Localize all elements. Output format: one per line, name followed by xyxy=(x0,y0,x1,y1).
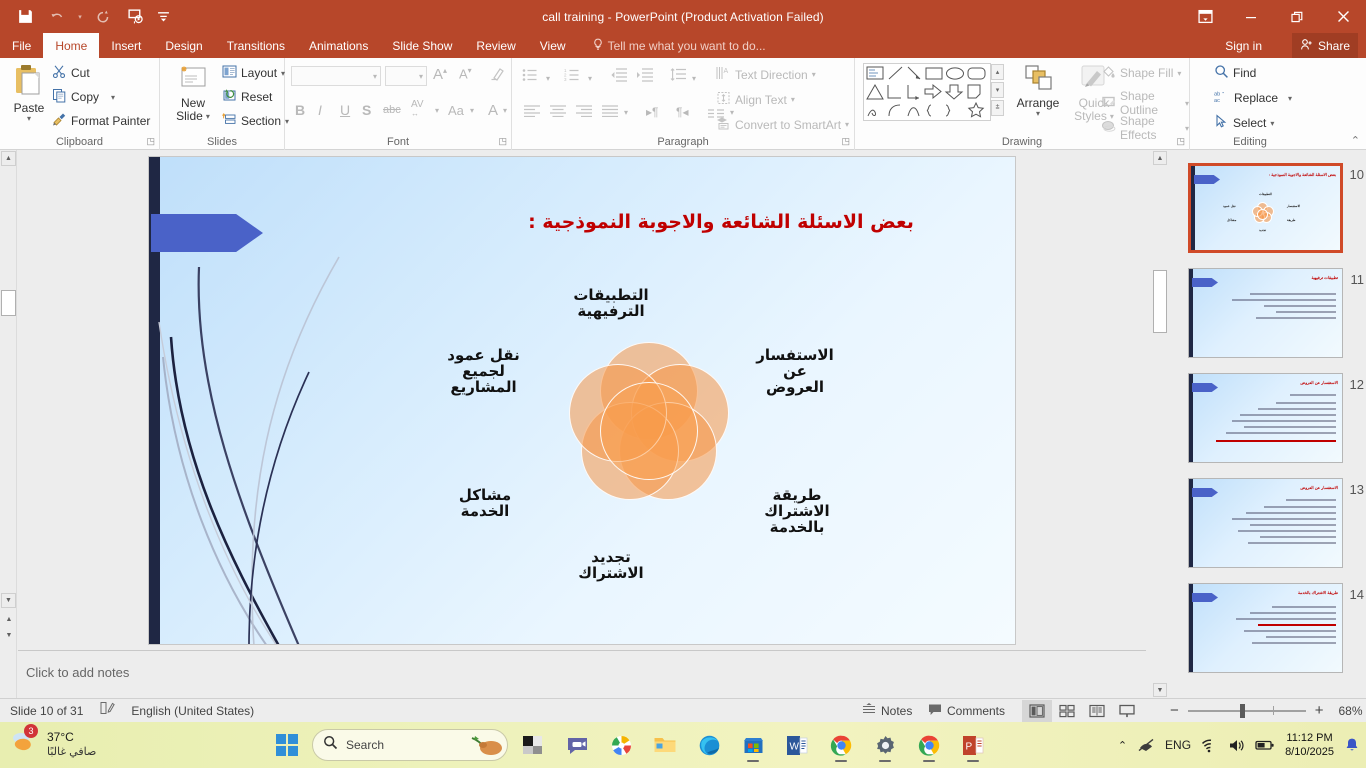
find-label: Find xyxy=(1233,66,1256,80)
clipboard-dialog-launcher[interactable]: ◳ xyxy=(146,136,155,147)
microsoft-store-icon[interactable] xyxy=(734,726,772,764)
bullets-button[interactable] xyxy=(522,68,538,87)
notes-pane[interactable]: Click to add notes xyxy=(18,651,1146,698)
svg-text:3: 3 xyxy=(564,77,567,82)
scroll-up-button[interactable]: ▲ xyxy=(1,151,16,166)
font-color-button[interactable]: A xyxy=(488,102,498,119)
thumbnail-row[interactable]: تطبيقات ترفيهية 11 xyxy=(1168,264,1366,370)
shape-fill-button[interactable]: Shape Fill ▾ xyxy=(1101,64,1181,82)
thumbnail-number: 11 xyxy=(1351,272,1365,287)
smartart-label-service-problems[interactable]: مشاكل الخدمة xyxy=(419,487,551,519)
weather-condition: صافي غالبًا xyxy=(47,745,96,758)
smartart-icon xyxy=(716,116,731,133)
running-indicator xyxy=(923,760,935,762)
notes-placeholder: Click to add notes xyxy=(26,665,129,680)
thumb-scroll-down-button[interactable]: ▼ xyxy=(1153,683,1167,697)
ribbon-group-paragraph: ▾ 123 ▾ ▾ ▾ ▸¶ ¶◂ ▾ xyxy=(512,58,855,150)
slide-sorter-view-button[interactable] xyxy=(1052,700,1082,722)
running-indicator xyxy=(835,760,847,762)
label-line: نقل عمود xyxy=(411,347,556,363)
new-slide-icon xyxy=(177,64,209,97)
reset-button[interactable]: Reset xyxy=(222,88,272,106)
taskbar: 3 37°C صافي غالبًا Search xyxy=(0,722,1366,768)
shape-fill-icon xyxy=(1101,64,1116,82)
bullets-dropdown-icon[interactable]: ▾ xyxy=(546,74,550,83)
svg-text:P: P xyxy=(966,741,973,752)
zoom-out-button[interactable]: − xyxy=(1170,702,1179,719)
label-line: مشاكل xyxy=(419,487,551,503)
label-line: الاستفسار xyxy=(729,347,861,363)
language-indicator-tray[interactable]: ENG xyxy=(1165,738,1191,752)
arrange-icon xyxy=(1022,64,1054,97)
ribbon-group-font: ▾ ▾ A▴ A▾ B I U S abc AV ↔ ▾ Aa ▾ A ▾ Fo… xyxy=(285,58,512,150)
scrollbar-thumb[interactable] xyxy=(1,290,16,316)
section-button[interactable]: Section ▾ xyxy=(222,112,289,130)
slide-vertical-scrollbar[interactable]: ▲ ▼ ▲ ▼ xyxy=(0,150,17,698)
smartart-label-subscription-method[interactable]: طريقة الاشتراك بالخدمة xyxy=(731,487,863,536)
slideshow-view-button[interactable] xyxy=(1112,700,1142,722)
share-label: Share xyxy=(1318,39,1350,53)
notes-button[interactable]: Notes xyxy=(862,703,912,719)
text-direction-button[interactable]: A Text Direction ▾ xyxy=(716,66,816,83)
battery-icon[interactable] xyxy=(1255,738,1275,752)
font-name-input[interactable]: ▾ xyxy=(291,66,381,86)
editing-group-label: Editing xyxy=(1190,136,1310,148)
align-text-icon xyxy=(716,91,731,108)
thumbnail-number: 14 xyxy=(1350,587,1364,602)
settings-icon[interactable] xyxy=(866,726,904,764)
photos-icon[interactable] xyxy=(602,726,640,764)
character-spacing-button[interactable]: AV ↔ xyxy=(411,100,424,118)
text-direction-label: Text Direction xyxy=(735,68,808,82)
cursor-icon xyxy=(1214,114,1229,132)
label-line: لجميع xyxy=(411,363,556,379)
shapes-gallery[interactable] xyxy=(863,63,991,121)
work-area: ▲ ▼ ▲ ▼ بعض الاسئلة الشائعة والاجوبة الن… xyxy=(0,150,1366,698)
share-person-icon xyxy=(1300,38,1313,54)
word-icon[interactable]: W xyxy=(778,726,816,764)
align-center-button[interactable] xyxy=(550,104,566,122)
thumb-title: طريقة الاشتراك بالخدمة xyxy=(1298,590,1338,595)
comment-icon xyxy=(928,703,942,719)
svg-text:ab: ab xyxy=(1214,92,1220,98)
text-direction-ltr-button[interactable]: ▸¶ xyxy=(646,105,658,119)
align-text-button[interactable]: Align Text ▾ xyxy=(716,91,795,108)
label-line: تجديد xyxy=(541,549,681,565)
tab-home[interactable]: Home xyxy=(43,33,99,58)
close-button[interactable] xyxy=(1320,0,1366,33)
ribbon-group-clipboard: Paste ▾ Cut Copy ▾ Format Painter Clipbo… xyxy=(0,58,160,150)
task-view-icon[interactable] xyxy=(514,726,552,764)
chat-icon[interactable] xyxy=(558,726,596,764)
zoom-level-label[interactable]: 68% xyxy=(1333,704,1363,718)
slide-thumbnail-13[interactable]: الاستفسار عن العروض xyxy=(1188,478,1343,568)
running-indicator xyxy=(967,760,979,762)
tab-file[interactable]: File xyxy=(0,33,43,58)
slide-editing-pane: بعض الاسئلة الشائعة والاجوبة النموذجية :… xyxy=(18,150,1146,650)
format-painter-label: Format Painter xyxy=(71,114,150,128)
search-placeholder: Search xyxy=(346,738,384,752)
running-indicator xyxy=(747,760,759,762)
slide-thumbnail-10[interactable]: بعض الاسئلة الشائعة والاجوبة النموذجية :… xyxy=(1188,163,1343,253)
ribbon-group-editing: Find abac Replace ▾ Select ▾ Editing xyxy=(1190,58,1310,150)
thumb-banner-arrow xyxy=(1192,488,1218,497)
clear-formatting-icon[interactable] xyxy=(489,66,505,87)
reset-label: Reset xyxy=(241,90,272,104)
slide-thumbnail-14[interactable]: طريقة الاشتراك بالخدمة xyxy=(1188,583,1343,673)
numbering-button[interactable]: 123 xyxy=(564,68,580,87)
shapes-scroll-down-button[interactable]: ▾ xyxy=(991,82,1004,98)
tab-view[interactable]: View xyxy=(528,33,578,58)
scissors-icon xyxy=(52,64,67,82)
replace-label: Replace xyxy=(1234,91,1278,105)
increase-font-size-button[interactable]: A▴ xyxy=(433,66,447,83)
layout-button[interactable]: Layout ▾ xyxy=(222,64,285,82)
minimize-button[interactable] xyxy=(1228,0,1274,33)
layout-icon xyxy=(222,64,237,82)
arrange-dropdown-icon[interactable]: ▾ xyxy=(1036,110,1040,119)
bold-button[interactable]: B xyxy=(295,102,305,118)
font-size-dropdown-icon[interactable]: ▾ xyxy=(419,72,423,81)
zoom-slider[interactable] xyxy=(1188,710,1306,712)
scroll-down-button[interactable]: ▼ xyxy=(1,593,16,608)
slide-banner-arrow xyxy=(151,214,263,252)
lightbulb-icon xyxy=(592,38,604,54)
save-icon[interactable] xyxy=(10,4,40,30)
status-bar: Slide 10 of 31 English (United States) N… xyxy=(0,698,1366,722)
thumbnail-number: 13 xyxy=(1350,482,1364,497)
search-icon xyxy=(1214,64,1229,82)
shapes-more-button[interactable]: ⩲ xyxy=(991,100,1004,116)
svg-text:A: A xyxy=(724,68,729,75)
comments-label: Comments xyxy=(947,704,1005,718)
columns-dropdown-icon[interactable]: ▾ xyxy=(624,108,628,117)
cut-label: Cut xyxy=(71,66,90,80)
reset-icon xyxy=(222,88,237,106)
system-tray: ⌃ ENG 11:12 PM 8/10/2025 xyxy=(1118,722,1360,768)
spelling-icon[interactable] xyxy=(99,701,115,720)
title-bar: ▾ call training - PowerPoint (Product Ac… xyxy=(0,0,1366,33)
search-box[interactable]: Search xyxy=(312,729,508,761)
clipboard-group-label: Clipboard xyxy=(0,136,159,148)
microsoft-edge-icon[interactable] xyxy=(690,726,728,764)
ribbon-group-slides: New Slide ▾ Layout ▾ Reset Section ▾ xyxy=(160,58,285,150)
shape-outline-icon xyxy=(1101,94,1116,112)
smartart-venn-graphic[interactable] xyxy=(569,342,729,502)
weather-temperature: 37°C xyxy=(47,730,96,745)
strikethrough-button[interactable]: abc xyxy=(383,104,401,116)
zoom-slider-handle[interactable] xyxy=(1240,704,1245,718)
paste-button[interactable]: Paste ▾ xyxy=(8,64,50,124)
restore-button[interactable] xyxy=(1274,0,1320,33)
shape-outline-button[interactable]: Shape Outline ▾ xyxy=(1101,89,1189,117)
tab-review[interactable]: Review xyxy=(464,33,527,58)
customize-qat-icon[interactable] xyxy=(152,4,174,30)
current-slide[interactable]: بعض الاسئلة الشائعة والاجوبة النموذجية :… xyxy=(148,156,1016,645)
copy-icon xyxy=(52,88,67,106)
increase-indent-button[interactable] xyxy=(636,68,653,87)
smartart-dropdown-icon[interactable]: ▾ xyxy=(845,120,849,129)
tab-slide-show[interactable]: Slide Show xyxy=(380,33,464,58)
ribbon-group-drawing: ▴ ▾ ⩲ Arrange ▾ Quick xyxy=(855,58,1190,150)
reading-view-button[interactable] xyxy=(1082,700,1112,722)
font-dialog-launcher[interactable]: ◳ xyxy=(498,136,507,147)
ribbon: Paste ▾ Cut Copy ▾ Format Painter Clipbo… xyxy=(0,58,1366,150)
tab-design[interactable]: Design xyxy=(153,33,214,58)
thumb-title: بعض الاسئلة الشائعة والاجوبة النموذجية : xyxy=(1269,172,1336,177)
chrome-icon-2[interactable] xyxy=(910,726,948,764)
shape-outline-dropdown-icon[interactable]: ▾ xyxy=(1185,99,1189,108)
thumbnail-number: 12 xyxy=(1350,377,1364,392)
align-text-label: Align Text xyxy=(735,93,787,107)
convert-to-smartart-button[interactable]: Convert to SmartArt ▾ xyxy=(716,116,849,133)
label-line: العروض xyxy=(729,379,861,395)
slides-group-label: Slides xyxy=(160,136,284,148)
label-line: التطبيقات xyxy=(541,287,681,303)
change-case-dropdown-icon[interactable]: ▾ xyxy=(470,106,474,115)
thumb-title: تطبيقات ترفيهية xyxy=(1311,275,1338,280)
tab-insert[interactable]: Insert xyxy=(99,33,153,58)
running-indicator xyxy=(879,760,891,762)
tab-transitions[interactable]: Transitions xyxy=(215,33,297,58)
text-direction-rtl-button[interactable]: ¶◂ xyxy=(676,105,688,119)
thumbnail-row[interactable]: بعض الاسئلة الشائعة والاجوبة النموذجية :… xyxy=(1168,159,1366,265)
wifi-icon[interactable] xyxy=(1201,738,1218,753)
clock[interactable]: 11:12 PM 8/10/2025 xyxy=(1285,731,1334,760)
shape-outline-label: Shape Outline xyxy=(1120,89,1181,117)
replace-dropdown-icon[interactable]: ▾ xyxy=(1288,94,1292,103)
label-line: الترفيهية xyxy=(541,303,681,319)
tell-me-search[interactable]: Tell me what you want to do... xyxy=(578,33,766,58)
normal-view-button[interactable] xyxy=(1022,700,1052,722)
shape-fill-label: Shape Fill xyxy=(1120,66,1173,80)
find-button[interactable]: Find xyxy=(1214,64,1256,82)
numbering-dropdown-icon[interactable]: ▾ xyxy=(588,74,592,83)
notifications-icon[interactable] xyxy=(1344,737,1360,753)
collapse-ribbon-button[interactable]: ⌃ xyxy=(1351,134,1360,147)
start-button[interactable] xyxy=(268,726,306,764)
section-label: Section xyxy=(241,114,281,128)
shape-effects-dropdown-icon[interactable]: ▾ xyxy=(1185,124,1189,133)
smartart-label-pole-transfer[interactable]: نقل عمود لجميع المشاريع xyxy=(411,347,556,396)
font-color-dropdown-icon[interactable]: ▾ xyxy=(503,106,507,115)
font-size-input[interactable]: ▾ xyxy=(385,66,427,86)
svg-text:W: W xyxy=(790,741,800,752)
align-text-dropdown-icon[interactable]: ▾ xyxy=(791,95,795,104)
align-left-button[interactable] xyxy=(524,104,540,122)
file-explorer-icon[interactable] xyxy=(646,726,684,764)
thumbnail-row[interactable]: طريقة الاشتراك بالخدمة 14 xyxy=(1168,579,1366,685)
line-spacing-button[interactable] xyxy=(670,68,687,87)
font-group-label: Font xyxy=(285,136,511,148)
zoom-slider-midpoint xyxy=(1273,706,1274,715)
thumb-title: الاستفسار عن العروض xyxy=(1300,380,1338,385)
previous-slide-button[interactable]: ▲ xyxy=(3,613,15,625)
new-slide-dropdown-icon[interactable]: ▾ xyxy=(206,113,210,122)
line-spacing-dropdown-icon[interactable]: ▾ xyxy=(692,74,696,83)
svg-text:ac: ac xyxy=(1214,98,1220,104)
replace-button[interactable]: abac Replace ▾ xyxy=(1214,89,1292,107)
language-indicator[interactable]: English (United States) xyxy=(131,704,254,718)
no-internet-icon[interactable] xyxy=(1137,737,1155,753)
arrange-button[interactable]: Arrange ▾ xyxy=(1011,64,1065,119)
align-right-button[interactable] xyxy=(576,104,592,122)
paintbrush-icon xyxy=(52,112,67,130)
shape-fill-dropdown-icon[interactable]: ▾ xyxy=(1177,69,1181,78)
quick-access-toolbar: ▾ xyxy=(0,4,174,30)
smartart-label-subscription-renewal[interactable]: تجديد الاشتراك xyxy=(541,549,681,581)
window-controls xyxy=(1182,0,1366,33)
chrome-icon[interactable] xyxy=(822,726,860,764)
sign-in-button[interactable]: Sign in xyxy=(1225,33,1262,58)
undo-icon[interactable] xyxy=(42,4,72,30)
text-shadow-button[interactable]: S xyxy=(362,102,371,118)
shapes-scroll-up-button[interactable]: ▴ xyxy=(991,64,1004,80)
thumbnail-row[interactable]: الاستفسار عن العروض 13 xyxy=(1168,474,1366,580)
slide-counter[interactable]: Slide 10 of 31 xyxy=(10,704,83,718)
label-line: المشاريع xyxy=(411,379,556,395)
shape-effects-icon xyxy=(1101,119,1116,137)
slide-thumbnail-panel: بعض الاسئلة الشائعة والاجوبة النموذجية :… xyxy=(1168,150,1366,698)
slide-thumbnail-12[interactable]: الاستفسار عن العروض xyxy=(1188,373,1343,463)
taskbar-center: Search W xyxy=(268,726,992,764)
thumbnail-number: 10 xyxy=(1350,167,1364,182)
copy-dropdown-icon[interactable]: ▾ xyxy=(111,93,115,102)
thumb-banner-arrow xyxy=(1192,593,1218,602)
label-line: الاشتراك xyxy=(541,565,681,581)
char-spacing-dropdown-icon[interactable]: ▾ xyxy=(435,106,439,115)
smartart-label-entertainment-apps[interactable]: التطبيقات الترفيهية xyxy=(541,287,681,319)
replace-icon: abac xyxy=(1214,89,1230,107)
redo-icon[interactable] xyxy=(88,4,118,30)
copy-label: Copy xyxy=(71,90,99,104)
thumbnail-vertical-scrollbar[interactable]: ▲ ▼ xyxy=(1152,150,1168,698)
thumb-scroll-up-button[interactable]: ▲ xyxy=(1153,151,1167,165)
paste-dropdown-icon[interactable]: ▾ xyxy=(27,115,31,124)
paragraph-group-label: Paragraph xyxy=(512,136,854,148)
ribbon-tab-bar: File Home Insert Design Transitions Anim… xyxy=(0,33,1366,58)
italic-button[interactable]: I xyxy=(318,102,322,118)
decrease-font-size-button[interactable]: A▾ xyxy=(459,66,472,81)
select-dropdown-icon[interactable]: ▾ xyxy=(1270,119,1274,128)
cut-button[interactable]: Cut xyxy=(52,64,90,82)
paste-icon xyxy=(13,64,45,101)
label-line: عن xyxy=(729,363,861,379)
layout-label: Layout xyxy=(241,66,277,80)
weather-widget[interactable]: 3 37°C صافي غالبًا xyxy=(10,727,96,760)
search-illustration-icon xyxy=(469,732,505,761)
format-painter-button[interactable]: Format Painter xyxy=(52,112,150,130)
notes-icon xyxy=(862,703,876,719)
convert-to-smartart-label: Convert to SmartArt xyxy=(735,118,841,132)
drawing-dialog-launcher[interactable]: ◳ xyxy=(1176,136,1185,147)
clock-date: 8/10/2025 xyxy=(1285,745,1334,759)
clock-time: 11:12 PM xyxy=(1285,731,1334,745)
new-slide-button[interactable]: New Slide ▾ xyxy=(168,64,218,124)
chevron-down-icon[interactable]: ▾ xyxy=(74,4,86,30)
share-button[interactable]: Share xyxy=(1292,33,1358,58)
thumb-banner-arrow xyxy=(1192,278,1218,287)
decrease-indent-button[interactable] xyxy=(610,68,627,87)
thumb-title: الاستفسار عن العروض xyxy=(1300,485,1338,490)
text-direction-icon: A xyxy=(716,66,731,83)
text-direction-dropdown-icon[interactable]: ▾ xyxy=(812,70,816,79)
notification-badge: 3 xyxy=(24,724,38,738)
paragraph-dialog-launcher[interactable]: ◳ xyxy=(841,136,850,147)
search-icon xyxy=(323,735,338,755)
label-line: طريقة xyxy=(731,487,863,503)
tab-animations[interactable]: Animations xyxy=(297,33,380,58)
new-slide-label-2: Slide xyxy=(176,110,203,123)
change-case-button[interactable]: Aa xyxy=(448,103,464,118)
thumb-banner-arrow xyxy=(1194,175,1220,184)
label-line: الاشتراك xyxy=(731,503,863,519)
section-icon xyxy=(222,112,237,130)
comments-button[interactable]: Comments xyxy=(928,703,1005,719)
select-button[interactable]: Select ▾ xyxy=(1214,114,1274,132)
underline-button[interactable]: U xyxy=(340,102,350,118)
select-label: Select xyxy=(1233,116,1266,130)
slide-title-text[interactable]: بعض الاسئلة الشائعة والاجوبة النموذجية : xyxy=(461,211,981,233)
zoom-in-button[interactable]: + xyxy=(1315,702,1324,719)
thumb-banner-arrow xyxy=(1192,383,1218,392)
copy-button[interactable]: Copy ▾ xyxy=(52,88,115,106)
next-slide-button[interactable]: ▼ xyxy=(3,629,15,641)
label-line: بالخدمة xyxy=(731,519,863,535)
weather-icon: 3 xyxy=(10,727,40,760)
powerpoint-icon[interactable]: P xyxy=(954,726,992,764)
smartart-label-offers-inquiry[interactable]: الاستفسار عن العروض xyxy=(729,347,861,396)
start-slideshow-icon[interactable] xyxy=(120,4,150,30)
justify-button[interactable] xyxy=(602,104,618,122)
window-title: call training - PowerPoint (Product Acti… xyxy=(0,10,1366,24)
notes-label: Notes xyxy=(881,704,912,718)
volume-icon[interactable] xyxy=(1228,738,1245,753)
thumbnail-row[interactable]: الاستفسار عن العروض 12 xyxy=(1168,369,1366,475)
show-hidden-icons-button[interactable]: ⌃ xyxy=(1118,739,1127,752)
thumbnail-scrollbar-thumb[interactable] xyxy=(1153,270,1167,333)
tell-me-label: Tell me what you want to do... xyxy=(608,39,766,53)
font-name-dropdown-icon[interactable]: ▾ xyxy=(373,72,377,81)
label-line: الخدمة xyxy=(419,503,551,519)
ribbon-display-options-icon[interactable] xyxy=(1182,0,1228,33)
drawing-group-label: Drawing xyxy=(855,136,1189,148)
slide-thumbnail-11[interactable]: تطبيقات ترفيهية xyxy=(1188,268,1343,358)
